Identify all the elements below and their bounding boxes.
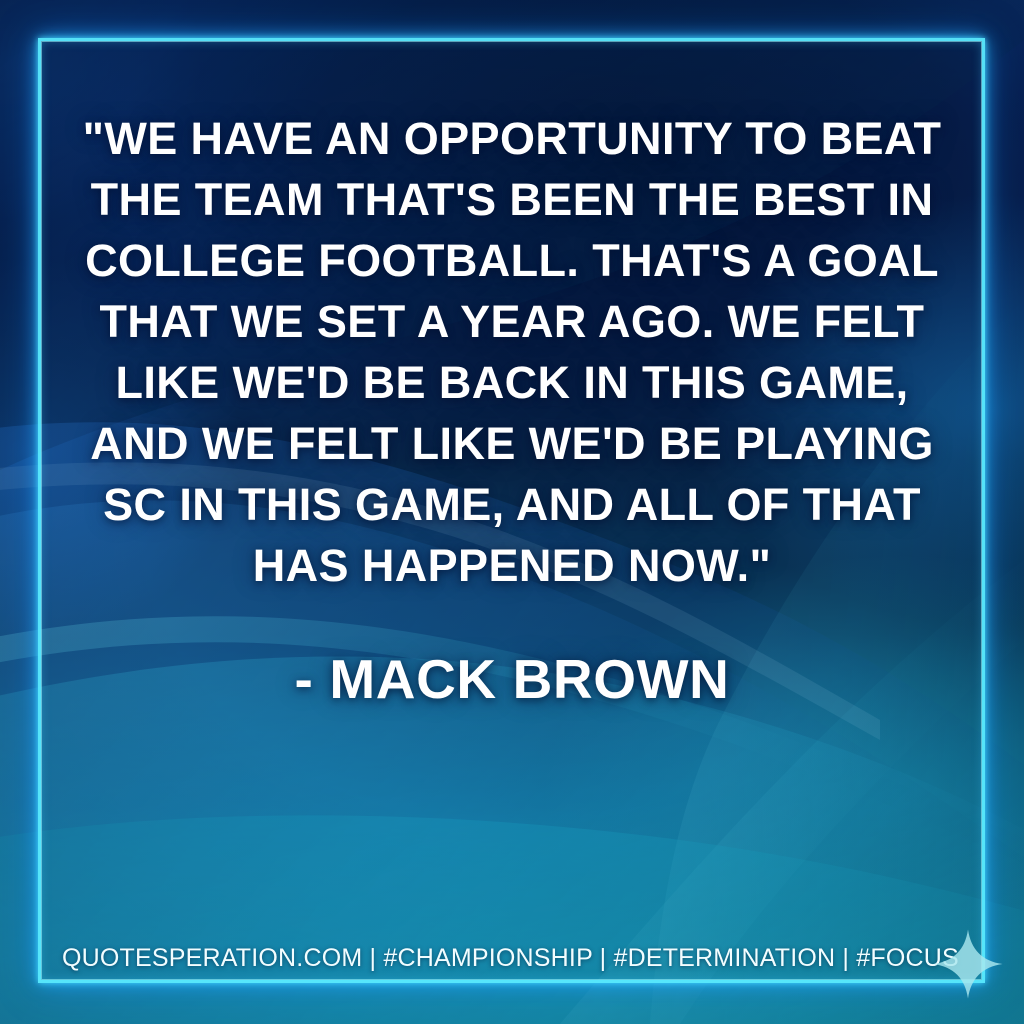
- quote-line: AND WE FELT LIKE WE'D BE PLAYING: [60, 413, 964, 474]
- quote-line: COLLEGE FOOTBALL. THAT'S A GOAL: [60, 230, 964, 291]
- quote-line: SC IN THIS GAME, AND ALL OF THAT: [60, 474, 964, 535]
- quote-line: HAS HAPPENED NOW.": [60, 535, 964, 596]
- footer-credits: QUOTESPERATION.COM | #CHAMPIONSHIP | #DE…: [62, 943, 959, 973]
- quote-attribution: - MACK BROWN: [60, 648, 964, 710]
- quote-line: LIKE WE'D BE BACK IN THIS GAME,: [60, 352, 964, 413]
- footer-bar: QUOTESPERATION.COM | #CHAMPIONSHIP | #DE…: [62, 941, 962, 975]
- quote-block: "WE HAVE AN OPPORTUNITY TO BEAT THE TEAM…: [60, 108, 964, 710]
- quote-card: "WE HAVE AN OPPORTUNITY TO BEAT THE TEAM…: [0, 0, 1024, 1024]
- quote-line: THAT WE SET A YEAR AGO. WE FELT: [60, 291, 964, 352]
- quote-line: "WE HAVE AN OPPORTUNITY TO BEAT: [60, 108, 964, 169]
- quote-line: THE TEAM THAT'S BEEN THE BEST IN: [60, 169, 964, 230]
